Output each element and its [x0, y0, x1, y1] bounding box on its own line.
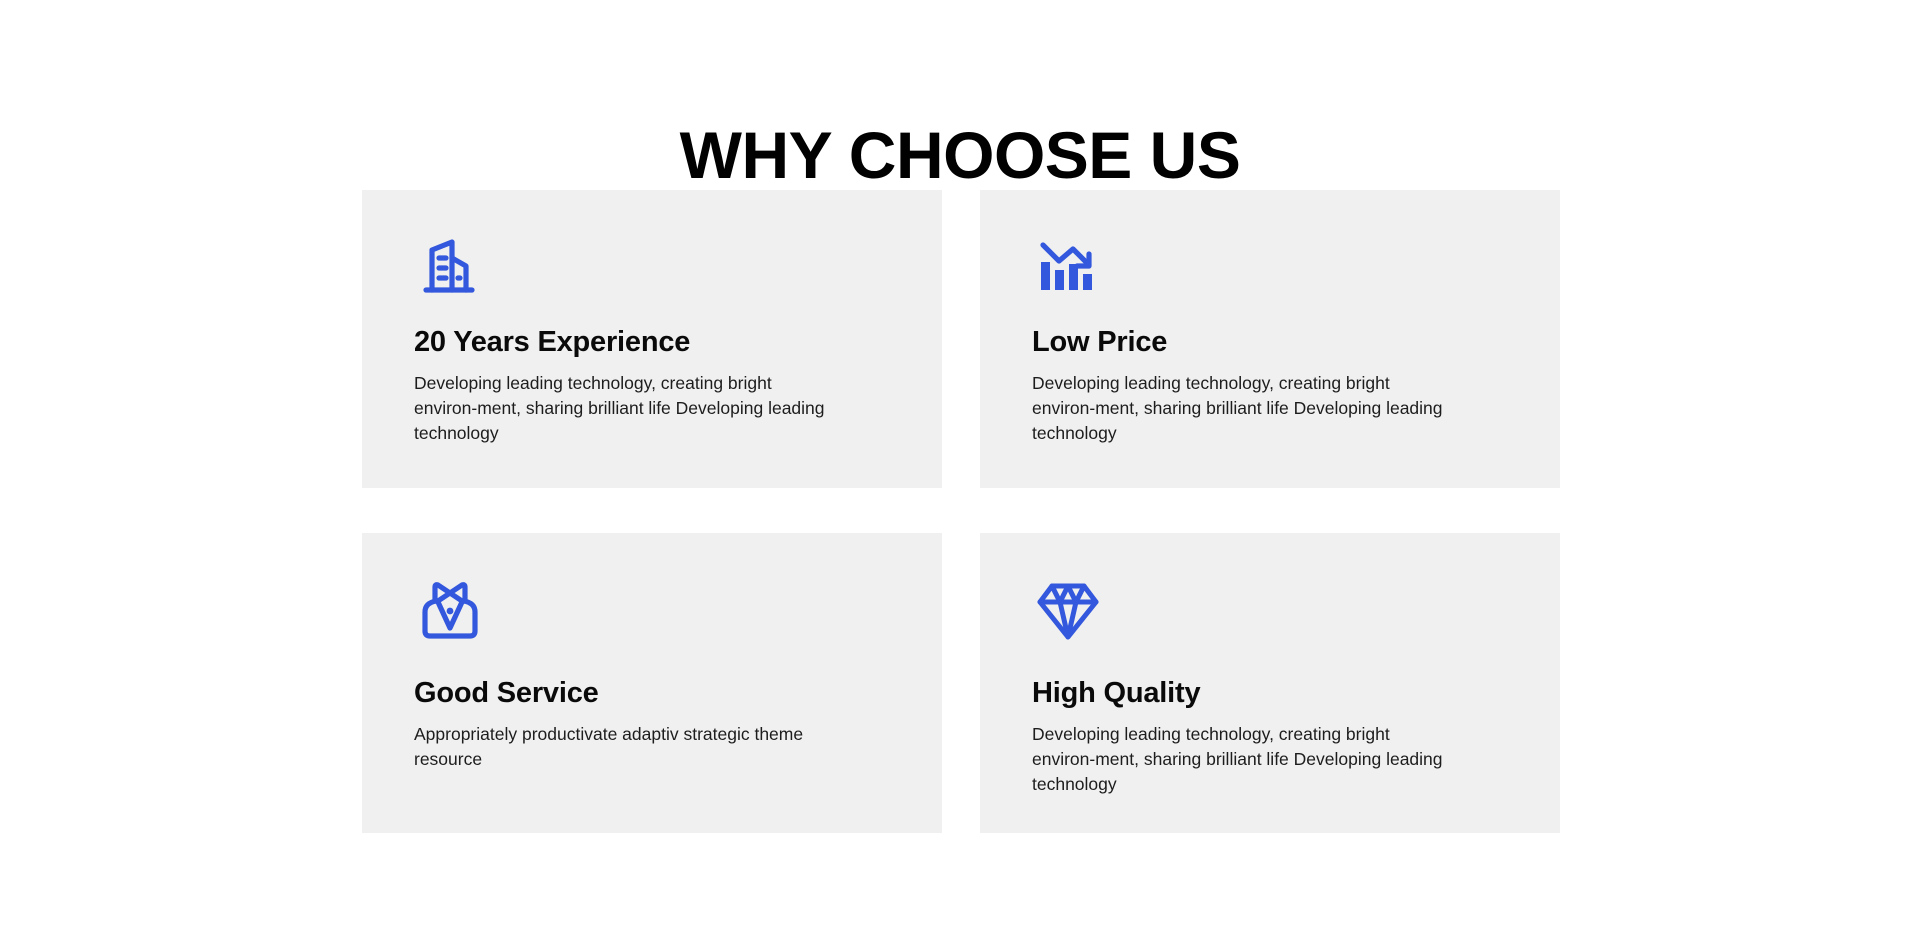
card-description: Developing leading technology, creating …: [1032, 722, 1452, 797]
card-title: High Quality: [1032, 677, 1508, 710]
diamond-icon: [1032, 573, 1508, 645]
card-title: Good Service: [414, 677, 890, 710]
feature-card-grid: 20 Years Experience Developing leading t…: [362, 190, 1560, 833]
feature-card-high-quality[interactable]: High Quality Developing leading technolo…: [980, 533, 1560, 833]
card-description: Developing leading technology, creating …: [1032, 371, 1452, 446]
declining-bar-chart-icon: [1032, 228, 1508, 300]
card-title: 20 Years Experience: [414, 326, 890, 359]
feature-card-experience[interactable]: 20 Years Experience Developing leading t…: [362, 190, 942, 488]
feature-card-good-service[interactable]: Good Service Appropriately productivate …: [362, 533, 942, 833]
page-title: WHY CHOOSE US: [0, 122, 1920, 188]
card-description: Developing leading technology, creating …: [414, 371, 834, 446]
feature-card-low-price[interactable]: Low Price Developing leading technology,…: [980, 190, 1560, 488]
office-building-icon: [414, 228, 890, 300]
card-description: Appropriately productivate adaptiv strat…: [414, 722, 834, 772]
card-title: Low Price: [1032, 326, 1508, 359]
tuxedo-bowtie-icon: [414, 573, 890, 645]
why-choose-us-section: WHY CHOOSE US 20 Years Experience Develo…: [0, 0, 1920, 930]
